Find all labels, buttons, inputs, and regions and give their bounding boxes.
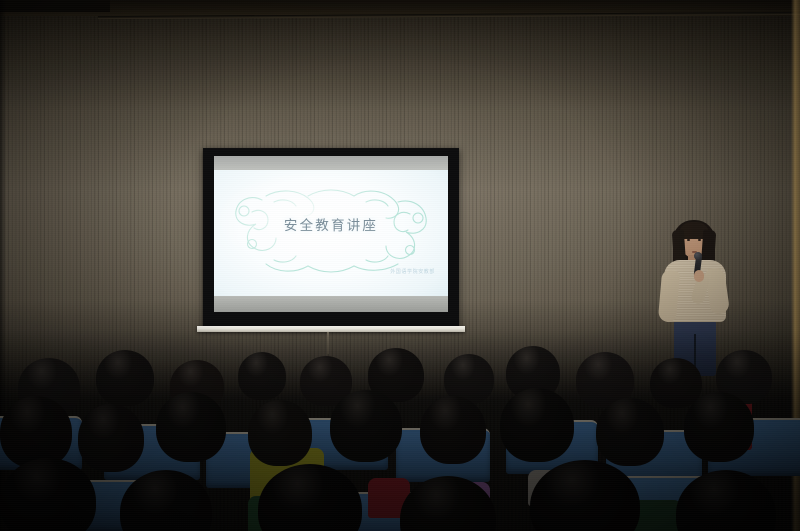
audience-member-head — [420, 396, 486, 464]
auditorium-photo: 安全教育讲座 外国语学院安教部 — [0, 0, 800, 531]
audience — [0, 330, 800, 531]
audience-member-head — [684, 392, 754, 462]
audience-member-head — [248, 400, 312, 466]
audience-member-head — [78, 404, 144, 472]
audience-member-head — [500, 388, 574, 462]
audience-member-head — [330, 390, 402, 462]
audience-member-head — [96, 350, 154, 406]
ceiling-left-corner — [0, 0, 110, 12]
presenter-eye-right — [698, 239, 701, 241]
presenter-eye-left — [687, 239, 690, 241]
presentation-slide: 安全教育讲座 外国语学院安教部 — [214, 170, 448, 296]
screen-top-band — [214, 156, 448, 170]
presenter-hand — [694, 270, 704, 282]
slide-subtitle: 外国语学院安教部 — [390, 268, 435, 275]
microphone-head-icon — [694, 252, 702, 260]
audience-member-head — [156, 392, 226, 462]
audience-member-head — [596, 398, 664, 466]
slide-title: 安全教育讲座 — [214, 214, 448, 234]
projection-screen: 安全教育讲座 外国语学院安教部 — [203, 148, 459, 336]
audience-member-head — [238, 352, 286, 400]
audience-member-head — [0, 458, 96, 531]
audience-member-head — [0, 396, 72, 468]
screen-bottom-band — [214, 296, 448, 312]
